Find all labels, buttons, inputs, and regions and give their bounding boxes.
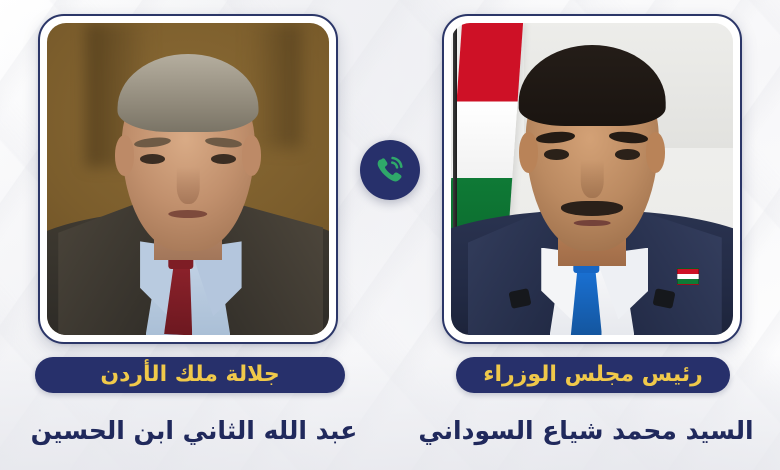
title-right: رئيس مجلس الوزراء bbox=[483, 364, 703, 386]
ear-right bbox=[242, 135, 262, 176]
photo-card-right bbox=[442, 14, 742, 344]
person-name-left: عبد الله الثاني ابن الحسين bbox=[8, 408, 380, 452]
nose-shape bbox=[177, 167, 200, 204]
portrait-background-drape-2 bbox=[250, 23, 301, 148]
lapel-microphone-right bbox=[652, 288, 675, 309]
photo-card-left bbox=[38, 14, 338, 344]
title-pill-right: رئيس مجلس الوزراء bbox=[456, 357, 730, 393]
eye-right bbox=[211, 154, 236, 164]
nose-shape bbox=[581, 160, 604, 197]
person-name-right: السيد محمد شياع السوداني bbox=[400, 408, 772, 452]
ear-right bbox=[646, 132, 666, 173]
portrait-prime-minister-al-sudani bbox=[451, 23, 733, 335]
title-pill-left: جلالة ملك الأردن bbox=[35, 357, 345, 393]
photo-frame-right bbox=[442, 14, 742, 344]
graphic-canvas: جلالة ملك الأردن رئيس مجلس الوزراء عبد ا… bbox=[0, 0, 780, 470]
mouth-shape bbox=[574, 220, 611, 227]
portrait-king-abdullah-ii bbox=[47, 23, 329, 335]
moustache-shape bbox=[561, 201, 623, 217]
iraqi-flag-lapel-pin-icon bbox=[677, 268, 699, 286]
title-left: جلالة ملك الأردن bbox=[100, 364, 279, 386]
photo-frame-left bbox=[38, 14, 338, 344]
eye-right bbox=[615, 149, 640, 160]
ear-left bbox=[115, 135, 135, 176]
phone-call-icon bbox=[360, 140, 420, 200]
